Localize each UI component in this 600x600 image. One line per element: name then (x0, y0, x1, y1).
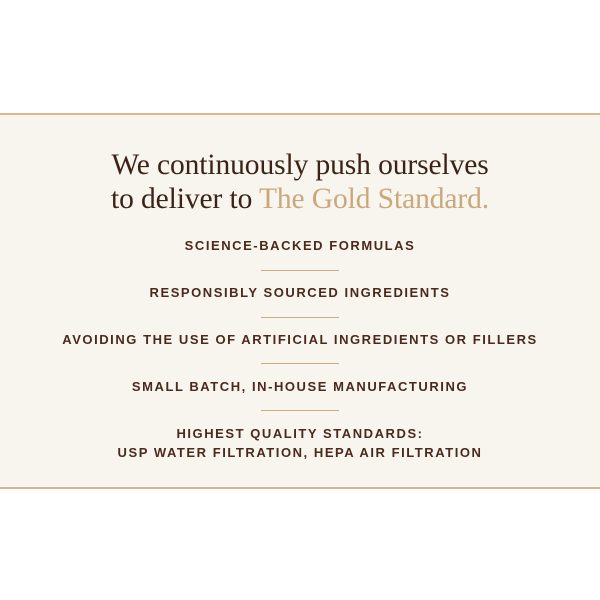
promo-card: We continuously push ourselves to delive… (0, 0, 600, 600)
claim-line: HIGHEST QUALITY STANDARDS: (118, 425, 483, 444)
claim-line: SCIENCE-BACKED FORMULAS (185, 237, 416, 256)
list-item: RESPONSIBLY SOURCED INGREDIENTS (150, 284, 451, 303)
claim-line: USP WATER FILTRATION, HEPA AIR FILTRATIO… (118, 444, 483, 463)
gold-standard-panel: We continuously push ourselves to delive… (0, 113, 600, 489)
headline-accent-text: The Gold Standard. (259, 183, 489, 215)
divider (261, 270, 339, 271)
headline-line-1: We continuously push ourselves (111, 149, 488, 181)
claim-line: RESPONSIBLY SOURCED INGREDIENTS (150, 284, 451, 303)
page-title: We continuously push ourselves to delive… (30, 148, 570, 216)
list-item: HIGHEST QUALITY STANDARDS: USP WATER FIL… (118, 425, 483, 463)
list-item: SMALL BATCH, IN-HOUSE MANUFACTURING (132, 378, 468, 397)
divider (261, 363, 339, 364)
headline-line-2-prefix: to deliver to (111, 183, 259, 215)
divider (261, 317, 339, 318)
claim-line: AVOIDING THE USE OF ARTIFICIAL INGREDIEN… (62, 331, 538, 350)
divider (261, 410, 339, 411)
claim-line: SMALL BATCH, IN-HOUSE MANUFACTURING (132, 378, 468, 397)
list-item: AVOIDING THE USE OF ARTIFICIAL INGREDIEN… (62, 331, 538, 350)
list-item: SCIENCE-BACKED FORMULAS (185, 237, 416, 256)
claims-list: SCIENCE-BACKED FORMULAS RESPONSIBLY SOUR… (20, 237, 580, 462)
